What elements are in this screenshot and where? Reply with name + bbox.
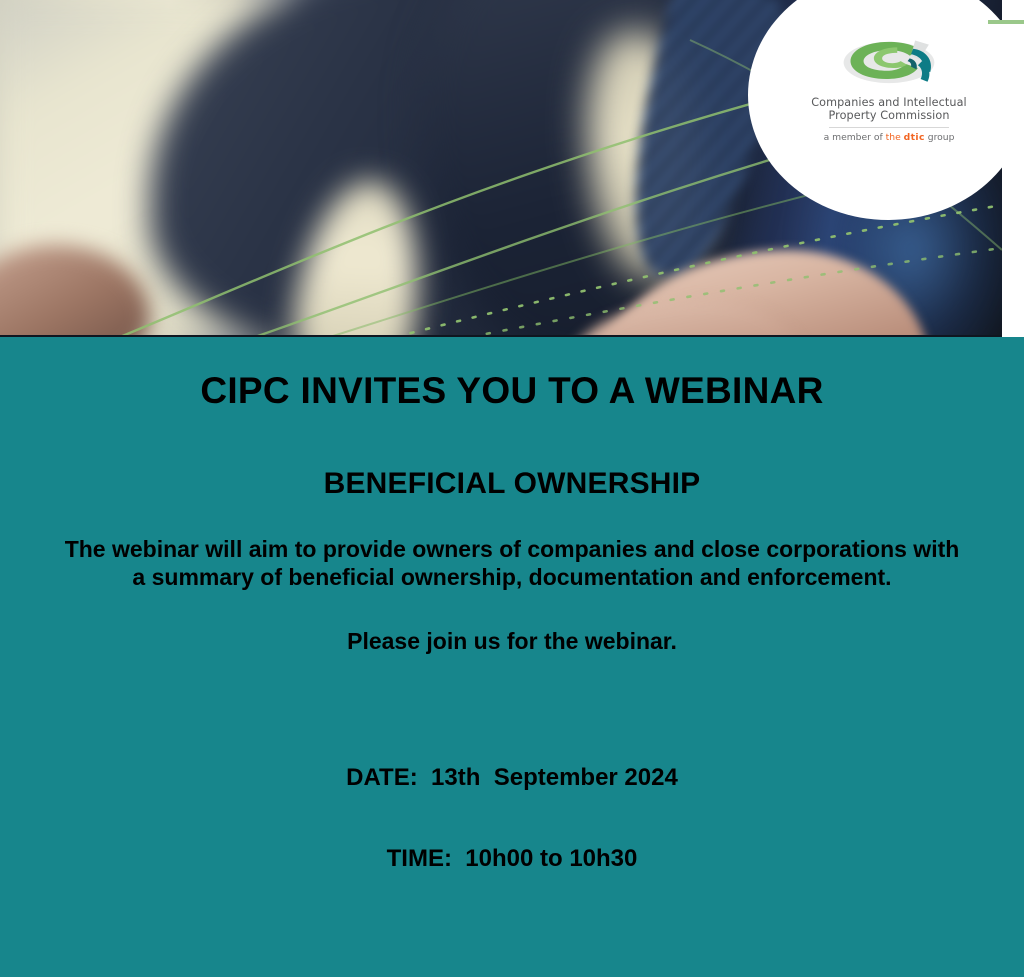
right-white-margin [1002,0,1024,337]
lead-paragraph: The webinar will aim to provide owners o… [57,500,967,591]
dtic-the: the [886,132,904,143]
cipc-logo: Companies and Intellectual Property Comm… [770,24,1008,143]
join-invitation: Please join us for the webinar. [0,591,1024,655]
event-date: DATE: 13th September 2024 [0,764,1024,791]
lead-line-1: The webinar will aim to provide owners o… [65,536,960,562]
lead-line-2: a summary of beneficial ownership, docum… [132,564,891,590]
content-panel: CIPC INVITES YOU TO A WEBINAR BENEFICIAL… [0,337,1024,977]
streaming-info: The webinar will be streamed live on CIP… [0,926,1024,977]
event-time: TIME: 10h00 to 10h30 [0,845,1024,872]
dtic-prefix: a member of [824,132,886,143]
logo-name-line-2: Property Commission [770,109,1008,122]
dtic-word: dtic [904,132,925,143]
page-subtitle: BENEFICIAL OWNERSHIP [0,412,1024,500]
webinar-poster: Companies and Intellectual Property Comm… [0,0,1024,977]
logo-dtic-tagline: a member of the dtic group [770,132,1008,143]
logo-name-line-1: Companies and Intellectual [770,96,1008,109]
logo-divider [829,127,949,128]
right-green-accent-line [988,20,1024,24]
cipc-spiral-logo-icon [833,24,945,90]
event-datetime: DATE: 13th September 2024 TIME: 10h00 to… [0,655,1024,926]
dtic-suffix: group [925,132,955,143]
page-title: CIPC INVITES YOU TO A WEBINAR [0,337,1024,412]
